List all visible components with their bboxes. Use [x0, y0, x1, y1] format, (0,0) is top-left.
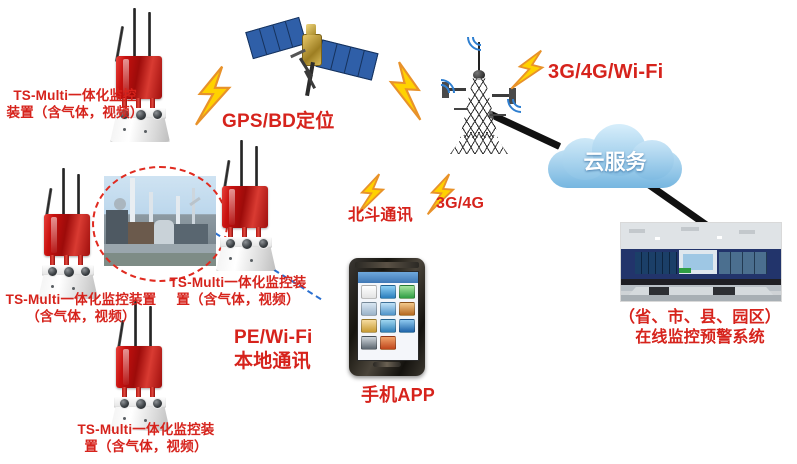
app-icon[interactable] — [399, 302, 415, 316]
app-icon[interactable] — [361, 285, 377, 299]
iot-architecture-diagram: 云服务 — [0, 0, 797, 464]
cloud-icon: 云服务 — [548, 124, 682, 190]
app-icon — [399, 336, 415, 348]
label-phone-app: 手机APP — [348, 384, 448, 407]
label-gps-bd: GPS/BD定位 — [222, 110, 362, 134]
label-3g4g-wifi: 3G/4G/Wi-Fi — [548, 60, 728, 85]
label-device-center: TS-Multi一体化监控装 置（含气体，视频） — [158, 275, 318, 309]
control-room-photo — [620, 222, 782, 302]
signal-wave-top-outer — [461, 17, 501, 57]
label-local-comm: PE/Wi-Fi 本地通讯 — [234, 326, 352, 374]
app-icon[interactable] — [399, 319, 415, 333]
sensor-device-center — [210, 140, 294, 268]
app-icon[interactable] — [380, 319, 396, 333]
cloud-service-label: 云服务 — [548, 146, 682, 176]
app-icon[interactable] — [361, 336, 377, 350]
app-icon[interactable] — [361, 302, 377, 316]
app-icon[interactable] — [361, 319, 377, 333]
app-icon[interactable] — [399, 285, 415, 299]
tablet-app-grid[interactable] — [361, 285, 415, 350]
rugged-tablet-device[interactable] — [349, 258, 425, 376]
tablet-screen[interactable] — [357, 271, 419, 361]
app-icon[interactable] — [380, 285, 396, 299]
satellite-icon — [248, 12, 373, 108]
label-device-top-left: TS-Multi一体化监控 装置（含气体，视频） — [0, 88, 150, 122]
app-icon[interactable] — [380, 302, 396, 316]
label-beidou: 北斗通讯 — [348, 206, 448, 226]
app-icon[interactable] — [380, 336, 396, 350]
label-3g4g: 3G/4G — [436, 194, 526, 214]
label-control-center: （省、市、县、园区） 在线监控预警系统 — [604, 308, 796, 348]
cell-tower-icon — [432, 22, 528, 162]
tablet-status-bar — [358, 272, 418, 283]
bolt-icon-satellite-to-tower — [373, 57, 437, 123]
bolt-icon-tower-wireless — [506, 46, 554, 94]
sensor-device-mid-left — [32, 168, 116, 296]
label-device-bottom-left: TS-Multi一体化监控装 置（含气体，视频） — [62, 422, 230, 456]
label-device-mid-left: TS-Multi一体化监控装置 （含气体，视频） — [0, 292, 162, 326]
